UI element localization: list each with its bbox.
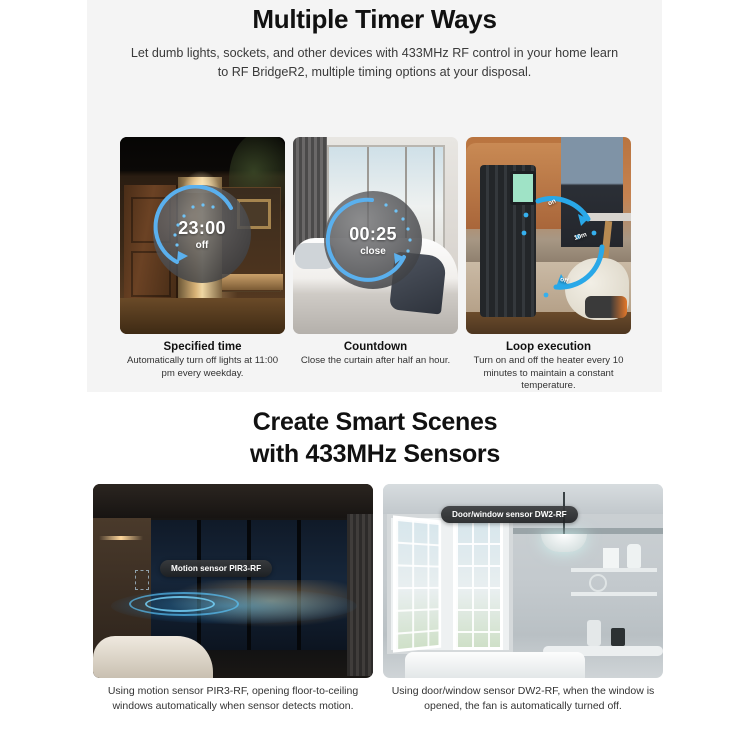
wall-shelf-lower bbox=[571, 592, 657, 596]
section2-title-line2: with 433MHz Sensors bbox=[0, 438, 750, 470]
window-sash-left bbox=[393, 515, 441, 652]
ground-shape bbox=[120, 298, 285, 334]
card2-caption-title: Countdown bbox=[293, 341, 458, 353]
plate-shape bbox=[589, 574, 607, 592]
jar-shape-2 bbox=[627, 544, 641, 568]
timer-dial-1: 23:00 off bbox=[153, 185, 251, 283]
sensor-cards-row: Motion sensor PIR3-RF Door/window sensor… bbox=[93, 484, 663, 678]
sensor-wave-inner bbox=[145, 596, 215, 612]
card2-caption-text: Close the curtain after half an hour. bbox=[293, 355, 458, 368]
utensil-holder-shape bbox=[611, 628, 625, 646]
loop-arrows-icon bbox=[516, 185, 626, 315]
door-window-sensor-badge: Door/window sensor DW2-RF bbox=[441, 506, 578, 523]
kitchen-window-photo: Door/window sensor DW2-RF bbox=[383, 484, 663, 678]
timer-card-loop-execution: on 10m off Loop execution Turn on and of… bbox=[466, 137, 631, 387]
jar-shape-1 bbox=[603, 548, 619, 568]
card1-caption-text: Automatically turn off lights at 11:00 p… bbox=[120, 355, 285, 380]
ceiling-rail-shape bbox=[513, 528, 663, 534]
sensor-card-2-caption: Using door/window sensor DW2-RF, when th… bbox=[383, 684, 663, 713]
wall-shelf-upper bbox=[571, 568, 657, 572]
window-frame-shape bbox=[387, 514, 513, 654]
window-sash-right bbox=[453, 518, 503, 650]
timer-section-panel: Multiple Timer Ways Let dumb lights, soc… bbox=[87, 0, 662, 392]
wall-light-strip bbox=[99, 536, 143, 540]
right-curtain-shape bbox=[347, 514, 373, 676]
sofa-shape bbox=[93, 636, 213, 678]
section1-title: Multiple Timer Ways bbox=[87, 4, 662, 35]
canister-shape bbox=[587, 620, 601, 646]
section1-subtitle: Let dumb lights, sockets, and other devi… bbox=[127, 44, 622, 82]
pendant-lamp-shape bbox=[541, 534, 587, 552]
motion-sensor-badge: Motion sensor PIR3-RF bbox=[160, 560, 272, 577]
sensor-card-motion-image: Motion sensor PIR3-RF bbox=[93, 484, 373, 678]
window-grid-right bbox=[456, 521, 500, 647]
section2-title-line1: Create Smart Scenes bbox=[0, 406, 750, 438]
ceiling-shape bbox=[93, 484, 373, 518]
timer-dial-2: 00:25 close bbox=[324, 191, 422, 289]
section2-title: Create Smart Scenes with 433MHz Sensors bbox=[0, 406, 750, 470]
card1-image: 23:00 off bbox=[120, 137, 285, 334]
sensor-card-1-caption: Using motion sensor PIR3-RF, opening flo… bbox=[93, 684, 373, 713]
timer-card-countdown: 00:25 close Countdown Close the curtain … bbox=[293, 137, 458, 387]
card3-caption-text: Turn on and off the heater every 10 minu… bbox=[466, 355, 631, 393]
timer-card-specified-time: 23:00 off Specified time Automatically t… bbox=[120, 137, 285, 387]
sensor-card-door-image: Door/window sensor DW2-RF bbox=[383, 484, 663, 678]
dial-arc-icon bbox=[153, 185, 251, 283]
window-grid-left bbox=[396, 519, 438, 649]
heater-room-photo: on 10m off bbox=[466, 137, 631, 334]
card3-caption-title: Loop execution bbox=[466, 341, 631, 353]
timer-cards-row: 23:00 off Specified time Automatically t… bbox=[120, 137, 632, 387]
card3-image: on 10m off bbox=[466, 137, 631, 334]
pir-sensor-marker bbox=[135, 570, 149, 590]
night-city-window-photo: Motion sensor PIR3-RF bbox=[93, 484, 373, 678]
card1-caption-title: Specified time bbox=[120, 341, 285, 353]
card2-image: 00:25 close bbox=[293, 137, 458, 334]
dial-arc-icon bbox=[324, 191, 422, 289]
table-shape bbox=[405, 652, 585, 678]
